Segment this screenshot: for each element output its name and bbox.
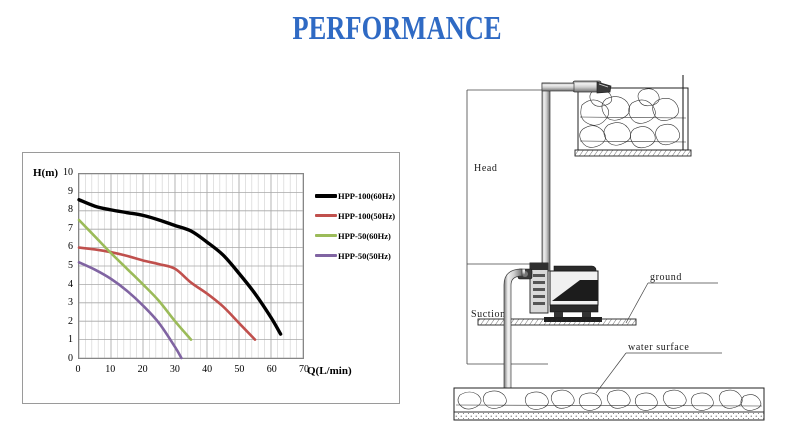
x-tick-label: 70: [292, 365, 316, 375]
legend-label: HPP-100(60Hz): [338, 191, 395, 201]
performance-page: PERFORMANCE H(m) Q(L/min) 012345678910 0…: [0, 0, 794, 425]
x-tick-label: 10: [98, 365, 122, 375]
y-tick-label: 6: [23, 242, 73, 252]
y-tick-label: 2: [23, 317, 73, 327]
discharge-nozzle: [573, 81, 611, 93]
discharge-pipe: [542, 83, 574, 271]
y-tick-label: 9: [23, 187, 73, 197]
x-tick-label: 20: [131, 365, 155, 375]
performance-chart: H(m) Q(L/min) 012345678910 0102030405060…: [22, 152, 400, 404]
water-bed: [454, 388, 764, 420]
series-line: [79, 200, 281, 334]
legend-swatch: [315, 214, 337, 217]
installation-diagram-svg: Head Suction: [430, 55, 790, 423]
y-tick-label: 3: [23, 298, 73, 308]
x-tick-label: 0: [66, 365, 90, 375]
y-tick-label: 10: [23, 168, 73, 178]
legend-swatch: [315, 234, 337, 237]
label-suction: Suction: [471, 309, 506, 320]
pump-unit: [518, 263, 602, 322]
legend-item[interactable]: HPP-100(50Hz): [315, 206, 403, 225]
page-title: PERFORMANCE: [87, 10, 706, 48]
y-tick-label: 7: [23, 224, 73, 234]
label-ground: ground: [650, 272, 682, 283]
label-water-surface: water surface: [628, 342, 689, 353]
installation-diagram: Head Suction: [430, 55, 790, 423]
x-tick-label: 30: [163, 365, 187, 375]
y-tick-label: 1: [23, 335, 73, 345]
legend-swatch: [315, 194, 337, 198]
legend-label: HPP-50(60Hz): [338, 231, 391, 241]
chart-series-lines: [79, 174, 303, 358]
water-surface-leader-line: [596, 353, 722, 393]
legend-label: HPP-100(50Hz): [338, 211, 395, 221]
suction-pipe: [504, 269, 525, 405]
ground-leader-line: [626, 283, 718, 323]
y-tick-label: 5: [23, 261, 73, 271]
series-line: [79, 220, 191, 340]
legend-swatch: [315, 254, 337, 257]
legend-item[interactable]: HPP-50(60Hz): [315, 226, 403, 245]
x-tick-label: 50: [227, 365, 251, 375]
legend-label: HPP-50(50Hz): [338, 251, 391, 261]
x-tick-label: 40: [195, 365, 219, 375]
label-head: Head: [474, 163, 498, 174]
legend-item[interactable]: HPP-50(50Hz): [315, 246, 403, 265]
legend-item[interactable]: HPP-100(60Hz): [315, 186, 403, 205]
y-tick-label: 8: [23, 205, 73, 215]
x-tick-label: 60: [260, 365, 284, 375]
chart-legend: HPP-100(60Hz) HPP-100(50Hz) HPP-50(60Hz)…: [315, 186, 403, 266]
ground-slab: [478, 319, 636, 325]
y-tick-label: 0: [23, 354, 73, 364]
chart-plot-area: [78, 173, 304, 359]
y-tick-label: 4: [23, 280, 73, 290]
